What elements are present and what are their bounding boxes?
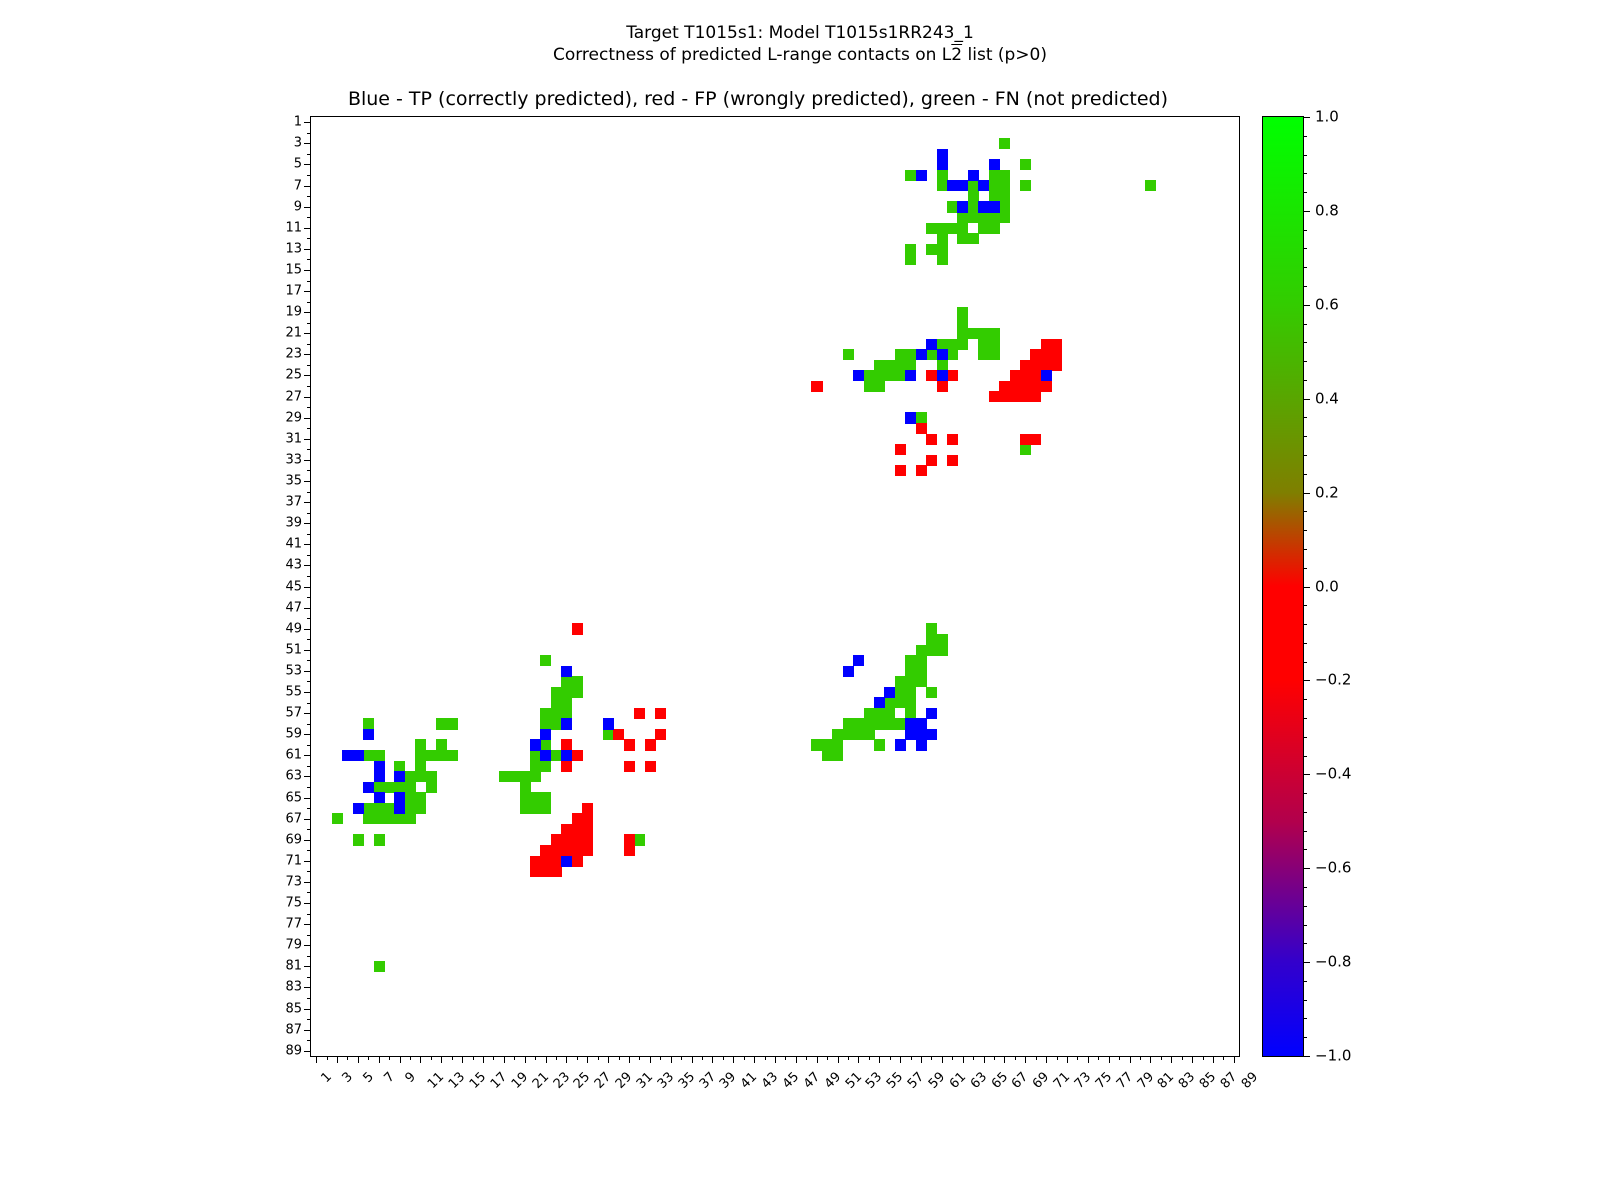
x-axis-tick — [1119, 1056, 1120, 1060]
y-axis-tick-label: 53 — [285, 664, 302, 677]
x-axis-tick — [316, 1056, 317, 1063]
heatmap-cell-fp — [926, 455, 937, 466]
heatmap-cell-fn-mirror — [540, 739, 551, 750]
x-axis-tick-label: 3 — [340, 1070, 355, 1085]
heatmap-cell-fn — [384, 813, 395, 824]
x-axis-tick — [619, 1056, 620, 1060]
x-axis-tick — [775, 1056, 776, 1063]
x-axis-tick-label: 51 — [843, 1070, 864, 1091]
x-axis-tick-label: 83 — [1177, 1070, 1198, 1091]
heatmap-cell-tp-mirror — [905, 729, 916, 740]
x-axis-tick-label: 63 — [968, 1070, 989, 1091]
y-axis-tick — [307, 766, 311, 767]
heatmap-cell-fn — [884, 370, 895, 381]
heatmap-cell-fn — [905, 360, 916, 371]
y-axis-tick — [307, 217, 311, 218]
x-axis-tick-label: 57 — [906, 1070, 927, 1091]
x-axis-tick-label: 77 — [1114, 1070, 1135, 1091]
heatmap-cell-fp — [947, 434, 958, 445]
y-axis-tick — [307, 871, 311, 872]
x-axis-tick-label: 69 — [1031, 1070, 1052, 1091]
x-axis-tick-label: 5 — [361, 1070, 376, 1085]
y-axis-tick — [304, 755, 311, 756]
y-axis-tick — [307, 175, 311, 176]
heatmap-cell-tp-mirror — [957, 201, 968, 212]
y-axis-tick — [304, 987, 311, 988]
x-axis-tick — [598, 1056, 599, 1060]
x-axis-tick-label: 21 — [530, 1070, 551, 1091]
heatmap-cell-fn-mirror — [436, 718, 447, 729]
x-axis-tick — [785, 1056, 786, 1060]
colorbar-minor-tick — [1303, 812, 1307, 813]
colorbar-minor-tick — [1303, 680, 1307, 681]
y-axis-tick — [304, 629, 311, 630]
y-axis-tick — [307, 407, 311, 408]
heatmap-cell-fn-mirror — [957, 212, 968, 223]
heatmap-cell-fn — [989, 223, 1000, 234]
y-axis-tick — [307, 724, 311, 725]
heatmap-cell-fn — [384, 803, 395, 814]
heatmap-cell-tp — [374, 771, 385, 782]
heatmap-cell-fn-mirror — [926, 687, 937, 698]
colorbar-minor-tick — [1303, 831, 1307, 832]
heatmap-cell-fp — [572, 623, 583, 634]
x-axis-tick — [1109, 1056, 1110, 1063]
heatmap-cell-fp-mirror — [551, 834, 562, 845]
heatmap-cell-fp-mirror — [1041, 339, 1052, 350]
y-axis-tick — [307, 133, 311, 134]
heatmap-cell-fp-mirror — [645, 761, 656, 772]
colorbar-minor-tick — [1303, 868, 1307, 869]
heatmap-cell-fp-mirror — [1051, 360, 1062, 371]
y-axis-tick — [304, 397, 311, 398]
colorbar-tick-label: 0.4 — [1315, 391, 1339, 406]
x-axis-tick — [900, 1056, 901, 1063]
y-axis-tick — [304, 924, 311, 925]
x-axis-tick — [660, 1056, 661, 1060]
heatmap-cell-fp — [937, 381, 948, 392]
x-axis-tick-label: 41 — [739, 1070, 760, 1091]
y-axis-tick-label: 71 — [285, 854, 302, 867]
heatmap-cell-fn-mirror — [394, 782, 405, 793]
heatmap-cell-fp-mirror — [561, 845, 572, 856]
heatmap-cell-fn-mirror — [989, 339, 1000, 350]
x-axis-tick — [848, 1056, 849, 1060]
heatmap-cell-fn-mirror — [363, 750, 374, 761]
x-axis-tick-label: 73 — [1073, 1070, 1094, 1091]
heatmap-cell-fn — [916, 412, 927, 423]
heatmap-cell-tp — [916, 170, 927, 181]
y-axis-tick — [307, 555, 311, 556]
heatmap-cell-fn — [832, 750, 843, 761]
x-axis-tick — [1088, 1056, 1089, 1063]
contact-map-figure: Target T1015s1: Model T1015s1RR243_1 Cor… — [0, 0, 1600, 1200]
y-axis-tick — [304, 460, 311, 461]
heatmap-cell-fn — [895, 718, 906, 729]
heatmap-cell-fp-mirror — [561, 761, 572, 772]
y-axis-tick — [304, 375, 311, 376]
y-axis-tick-label: 61 — [285, 749, 302, 762]
heatmap-cell-fp-mirror — [1020, 360, 1031, 371]
heatmap-cell-tp — [937, 349, 948, 360]
heatmap-cell-fn-mirror — [926, 623, 937, 634]
heatmap-cell-fn-mirror — [572, 687, 583, 698]
heatmap-cell-tp — [843, 666, 854, 677]
heatmap-cell-fn-mirror — [1020, 159, 1031, 170]
heatmap-cell-fn-mirror — [989, 180, 1000, 191]
x-axis-tick — [817, 1056, 818, 1063]
colorbar-minor-tick — [1303, 587, 1307, 588]
heatmap-cell-fp-mirror — [624, 761, 635, 772]
heatmap-cell-tp-mirror — [561, 856, 572, 867]
y-axis-tick-label: 41 — [285, 538, 302, 551]
y-axis-tick — [304, 692, 311, 693]
colorbar-tick-label: 0.8 — [1315, 203, 1339, 218]
heatmap-cell-tp — [916, 349, 927, 360]
heatmap-cell-fn — [905, 349, 916, 360]
heatmap-cell-fn-mirror — [937, 634, 948, 645]
colorbar-minor-tick — [1303, 1000, 1307, 1001]
heatmap-cell-fp-mirror — [1041, 381, 1052, 392]
heatmap-cell-fn-mirror — [332, 813, 343, 824]
heatmap-cell-fn — [843, 729, 854, 740]
y-axis-tick-label: 7 — [294, 179, 302, 192]
colorbar-minor-tick — [1303, 605, 1307, 606]
y-axis-tick — [304, 418, 311, 419]
colorbar-minor-tick — [1303, 737, 1307, 738]
heatmap-cell-fn — [864, 729, 875, 740]
heatmap-cell-tp-mirror — [374, 761, 385, 772]
y-axis-tick-label: 87 — [285, 1023, 302, 1036]
x-axis-tick — [556, 1056, 557, 1060]
heatmap-cell-fp — [613, 729, 624, 740]
y-axis-tick — [307, 302, 311, 303]
heatmap-cell-tp-mirror — [530, 739, 541, 750]
heatmap-cell-fp-mirror — [551, 856, 562, 867]
heatmap-cell-fn — [874, 370, 885, 381]
y-axis-tick-label: 75 — [285, 897, 302, 910]
x-axis-tick — [566, 1056, 567, 1063]
heatmap-cell-fp — [655, 729, 666, 740]
heatmap-cell-fn-mirror — [551, 718, 562, 729]
y-axis-tick — [307, 850, 311, 851]
colorbar-minor-tick — [1303, 887, 1307, 888]
heatmap-cell-tp-mirror — [926, 708, 937, 719]
heatmap-cell-fn — [884, 718, 895, 729]
heatmap-cell-tp-mirror — [561, 750, 572, 761]
heatmap-cell-fn-mirror — [415, 771, 426, 782]
colorbar-tick-label: −1.0 — [1315, 1049, 1351, 1064]
x-axis-tick — [1140, 1056, 1141, 1060]
heatmap-cell-fn — [864, 381, 875, 392]
colorbar-minor-tick — [1303, 624, 1307, 625]
heatmap-cell-fn — [832, 729, 843, 740]
x-axis-tick — [890, 1056, 891, 1060]
colorbar-minor-tick — [1303, 342, 1307, 343]
x-axis-tick-label: 29 — [614, 1070, 635, 1091]
y-axis-tick-label: 11 — [285, 221, 302, 234]
colorbar-minor-tick — [1303, 248, 1307, 249]
y-axis-tick — [304, 249, 311, 250]
heatmap-cell-fp-mirror — [1051, 349, 1062, 360]
heatmap-cell-fn — [509, 771, 520, 782]
heatmap-cell-tp-mirror — [957, 180, 968, 191]
x-axis-tick-label: 87 — [1219, 1070, 1240, 1091]
y-axis-tick — [307, 618, 311, 619]
heatmap-cell-fn — [426, 782, 437, 793]
heatmap-cell-fn-mirror — [978, 212, 989, 223]
heatmap-cell-fn-mirror — [989, 170, 1000, 181]
colorbar-minor-tick — [1303, 380, 1307, 381]
y-axis-tick — [304, 143, 311, 144]
y-axis-tick — [307, 365, 311, 366]
heatmap-cell-fn — [968, 201, 979, 212]
heatmap-cell-tp-mirror — [561, 718, 572, 729]
heatmap-cell-tp-mirror — [874, 697, 885, 708]
heatmap-cell-fn-mirror — [905, 687, 916, 698]
colorbar-minor-tick — [1303, 136, 1307, 137]
heatmap-cell-fp-mirror — [624, 834, 635, 845]
colorbar-minor-tick — [1303, 155, 1307, 156]
y-axis-tick — [304, 1030, 311, 1031]
x-axis-tick — [452, 1056, 453, 1060]
heatmap-cell-fn-mirror — [561, 708, 572, 719]
y-axis-tick-label: 29 — [285, 411, 302, 424]
y-axis-tick — [304, 439, 311, 440]
heatmap-cell-fp-mirror — [561, 824, 572, 835]
y-axis-tick — [304, 333, 311, 334]
y-axis-tick — [304, 945, 311, 946]
heatmap-cell-fp — [1010, 370, 1021, 381]
heatmap-cell-fn-mirror — [905, 708, 916, 719]
x-axis-tick — [671, 1056, 672, 1063]
x-axis-tick-label: 75 — [1093, 1070, 1114, 1091]
x-axis-tick — [577, 1056, 578, 1060]
x-axis-tick — [931, 1056, 932, 1060]
y-axis-tick — [307, 914, 311, 915]
title-line-2-pre: Correctness of predicted L-range contact… — [553, 45, 951, 65]
heatmap-cell-fn-mirror — [415, 739, 426, 750]
heatmap-cell-fn-mirror — [551, 687, 562, 698]
heatmap-cell-fp-mirror — [1030, 349, 1041, 360]
colorbar-minor-tick — [1303, 925, 1307, 926]
y-axis-tick-label: 9 — [294, 200, 302, 213]
heatmap-cell-fn — [937, 339, 948, 350]
x-axis-tick-label: 55 — [885, 1070, 906, 1091]
heatmap-cell-fn — [947, 349, 958, 360]
heatmap-cell-fp — [947, 455, 958, 466]
heatmap-cell-fp-mirror — [1020, 370, 1031, 381]
heatmap-cell-fn — [947, 223, 958, 234]
y-axis-tick-label: 43 — [285, 559, 302, 572]
heatmap-cell-fn — [999, 138, 1010, 149]
heatmap-cell-fn-mirror — [436, 739, 447, 750]
colorbar-tick-label: −0.2 — [1315, 673, 1351, 688]
x-axis-tick-label: 59 — [927, 1070, 948, 1091]
y-axis-tick — [304, 840, 311, 841]
heatmap-cell-fn — [530, 792, 541, 803]
x-axis-tick-label: 45 — [781, 1070, 802, 1091]
heatmap-cell-tp-mirror — [374, 792, 385, 803]
x-axis-tick — [1130, 1056, 1131, 1063]
x-axis-tick-label: 65 — [989, 1070, 1010, 1091]
heatmap-cell-tp-mirror — [540, 729, 551, 740]
colorbar-minor-tick — [1303, 718, 1307, 719]
heatmap-cell-fn-mirror — [968, 233, 979, 244]
y-axis-tick-label: 65 — [285, 791, 302, 804]
y-axis-tick-label: 85 — [285, 1002, 302, 1015]
y-axis-tick — [304, 966, 311, 967]
colorbar-minor-tick — [1303, 643, 1307, 644]
heatmap-cell-fn — [957, 223, 968, 234]
x-axis-tick — [389, 1056, 390, 1060]
x-axis-tick — [629, 1056, 630, 1063]
heatmap-cell-fp — [540, 866, 551, 877]
heatmap-cell-fn-mirror — [989, 349, 1000, 360]
x-axis-tick — [504, 1056, 505, 1063]
heatmap-cell-fn-mirror — [540, 761, 551, 772]
heatmap-cell-fn-mirror — [551, 708, 562, 719]
x-axis-tick-label: 7 — [382, 1070, 397, 1085]
heatmap-cell-fp-mirror — [582, 803, 593, 814]
colorbar-minor-tick — [1303, 906, 1307, 907]
heatmap-cell-fn-mirror — [905, 676, 916, 687]
x-axis-tick-label: 35 — [676, 1070, 697, 1091]
colorbar-minor-tick — [1303, 493, 1307, 494]
heatmap-cell-fn — [363, 803, 374, 814]
heatmap-cell-fn — [957, 339, 968, 350]
heatmap-cell-fn-mirror — [916, 676, 927, 687]
heatmap-cell-fn-mirror — [405, 792, 416, 803]
colorbar-minor-tick — [1303, 211, 1307, 212]
y-axis-tick — [307, 935, 311, 936]
x-axis-tick-label: 33 — [655, 1070, 676, 1091]
colorbar-minor-tick — [1303, 417, 1307, 418]
heatmap-cell-fn — [905, 244, 916, 255]
heatmap-cell-fn-mirror — [895, 676, 906, 687]
heatmap-cell-tp-mirror — [561, 666, 572, 677]
heatmap-cell-fp — [540, 856, 551, 867]
x-axis-tick-label: 37 — [697, 1070, 718, 1091]
title-line-1: Target T1015s1: Model T1015s1RR243_1 — [0, 22, 1600, 44]
x-axis-tick — [869, 1056, 870, 1060]
y-axis-tick — [307, 534, 311, 535]
y-axis-tick — [304, 861, 311, 862]
heatmap-cell-fn-mirror — [905, 697, 916, 708]
heatmap-cell-fp — [999, 391, 1010, 402]
heatmap-cell-fn-mirror — [374, 961, 385, 972]
colorbar-minor-tick — [1303, 267, 1307, 268]
heatmap-cell-fn — [811, 739, 822, 750]
heatmap-cell-fn — [447, 750, 458, 761]
x-axis-tick — [1046, 1056, 1047, 1063]
heatmap-cell-fp-mirror — [624, 739, 635, 750]
heatmap-cell-fn — [374, 803, 385, 814]
x-axis-tick — [1192, 1056, 1193, 1063]
figure-title: Target T1015s1: Model T1015s1RR243_1 Cor… — [0, 22, 1600, 66]
y-axis-tick-label: 73 — [285, 875, 302, 888]
heatmap-cell-fn — [895, 370, 906, 381]
heatmap-cell-fn-mirror — [895, 697, 906, 708]
heatmap-cell-fn-mirror — [937, 180, 948, 191]
heatmap-cell-fp — [1020, 434, 1031, 445]
heatmap-cell-fn-mirror — [999, 212, 1010, 223]
heatmap-cell-fp-mirror — [582, 845, 593, 856]
heatmap-cell-tp-mirror — [363, 782, 374, 793]
heatmap-cell-fp-mirror — [1030, 360, 1041, 371]
x-axis-tick-label: 13 — [447, 1070, 468, 1091]
heatmap-cell-fn — [895, 349, 906, 360]
heatmap-cell-fn-mirror — [540, 718, 551, 729]
heatmap-cell-fp — [989, 391, 1000, 402]
heatmap-cell-fn-mirror — [989, 212, 1000, 223]
heatmap-cell-fp-mirror — [895, 444, 906, 455]
y-axis-tick-label: 19 — [285, 306, 302, 319]
heatmap-cell-fn — [874, 708, 885, 719]
y-axis-tick — [307, 808, 311, 809]
heatmap-cell-tp — [978, 180, 989, 191]
heatmap-cell-fn-mirror — [937, 254, 948, 265]
heatmap-cell-fn-mirror — [363, 718, 374, 729]
heatmap-cell-fp-mirror — [916, 465, 927, 476]
heatmap-cell-fn — [937, 244, 948, 255]
heatmap-cell-fn-mirror — [603, 729, 614, 740]
x-axis-tick — [473, 1056, 474, 1060]
y-axis-tick — [307, 892, 311, 893]
heatmap-cell-fp — [634, 708, 645, 719]
y-axis-tick-label: 81 — [285, 960, 302, 973]
colorbar-minor-tick — [1303, 849, 1307, 850]
heatmap-cell-fn — [843, 718, 854, 729]
heatmap-cell-fn — [864, 718, 875, 729]
heatmap-cell-fp-mirror — [572, 750, 583, 761]
heatmap-cell-fn — [884, 360, 895, 371]
heatmap-cell-fn — [905, 254, 916, 265]
heatmap-cell-fn — [832, 739, 843, 750]
title-line-2-post: list (p>0) — [962, 45, 1047, 65]
heatmap-cell-tp — [947, 180, 958, 191]
heatmap-cell-fn-mirror — [978, 328, 989, 339]
heatmap-cell-tp-mirror — [916, 718, 927, 729]
x-axis-tick-label: 25 — [572, 1070, 593, 1091]
y-axis-tick — [304, 1051, 311, 1052]
x-axis-tick — [587, 1056, 588, 1063]
plot-area[interactable]: 1357911131517192123252729313335373941434… — [310, 116, 1240, 1057]
heatmap-cell-fp — [551, 866, 562, 877]
heatmap-cell-fn-mirror — [957, 233, 968, 244]
y-axis-tick — [307, 323, 311, 324]
heatmap-cell-fn-mirror — [1145, 180, 1156, 191]
x-axis-tick-label: 23 — [551, 1070, 572, 1091]
x-axis-tick-label: 27 — [593, 1070, 614, 1091]
heatmap-cell-fn-mirror — [999, 191, 1010, 202]
heatmap-cell-fp — [655, 708, 666, 719]
x-axis-tick — [1057, 1056, 1058, 1060]
heatmap-cell-fn-mirror — [989, 191, 1000, 202]
heatmap-cell-fn-mirror — [540, 655, 551, 666]
heatmap-cell-tp — [394, 771, 405, 782]
y-axis-tick — [304, 312, 311, 313]
heatmap-cell-fn-mirror — [447, 718, 458, 729]
heatmap-cell-fn-mirror — [572, 676, 583, 687]
y-axis-tick — [307, 238, 311, 239]
x-axis-tick — [535, 1056, 536, 1060]
heatmap-cells — [311, 117, 1239, 1056]
heatmap-cell-fn-mirror — [937, 233, 948, 244]
y-axis-tick-label: 31 — [285, 432, 302, 445]
heatmap-cell-fn — [426, 771, 437, 782]
heatmap-cell-fn-mirror — [978, 349, 989, 360]
